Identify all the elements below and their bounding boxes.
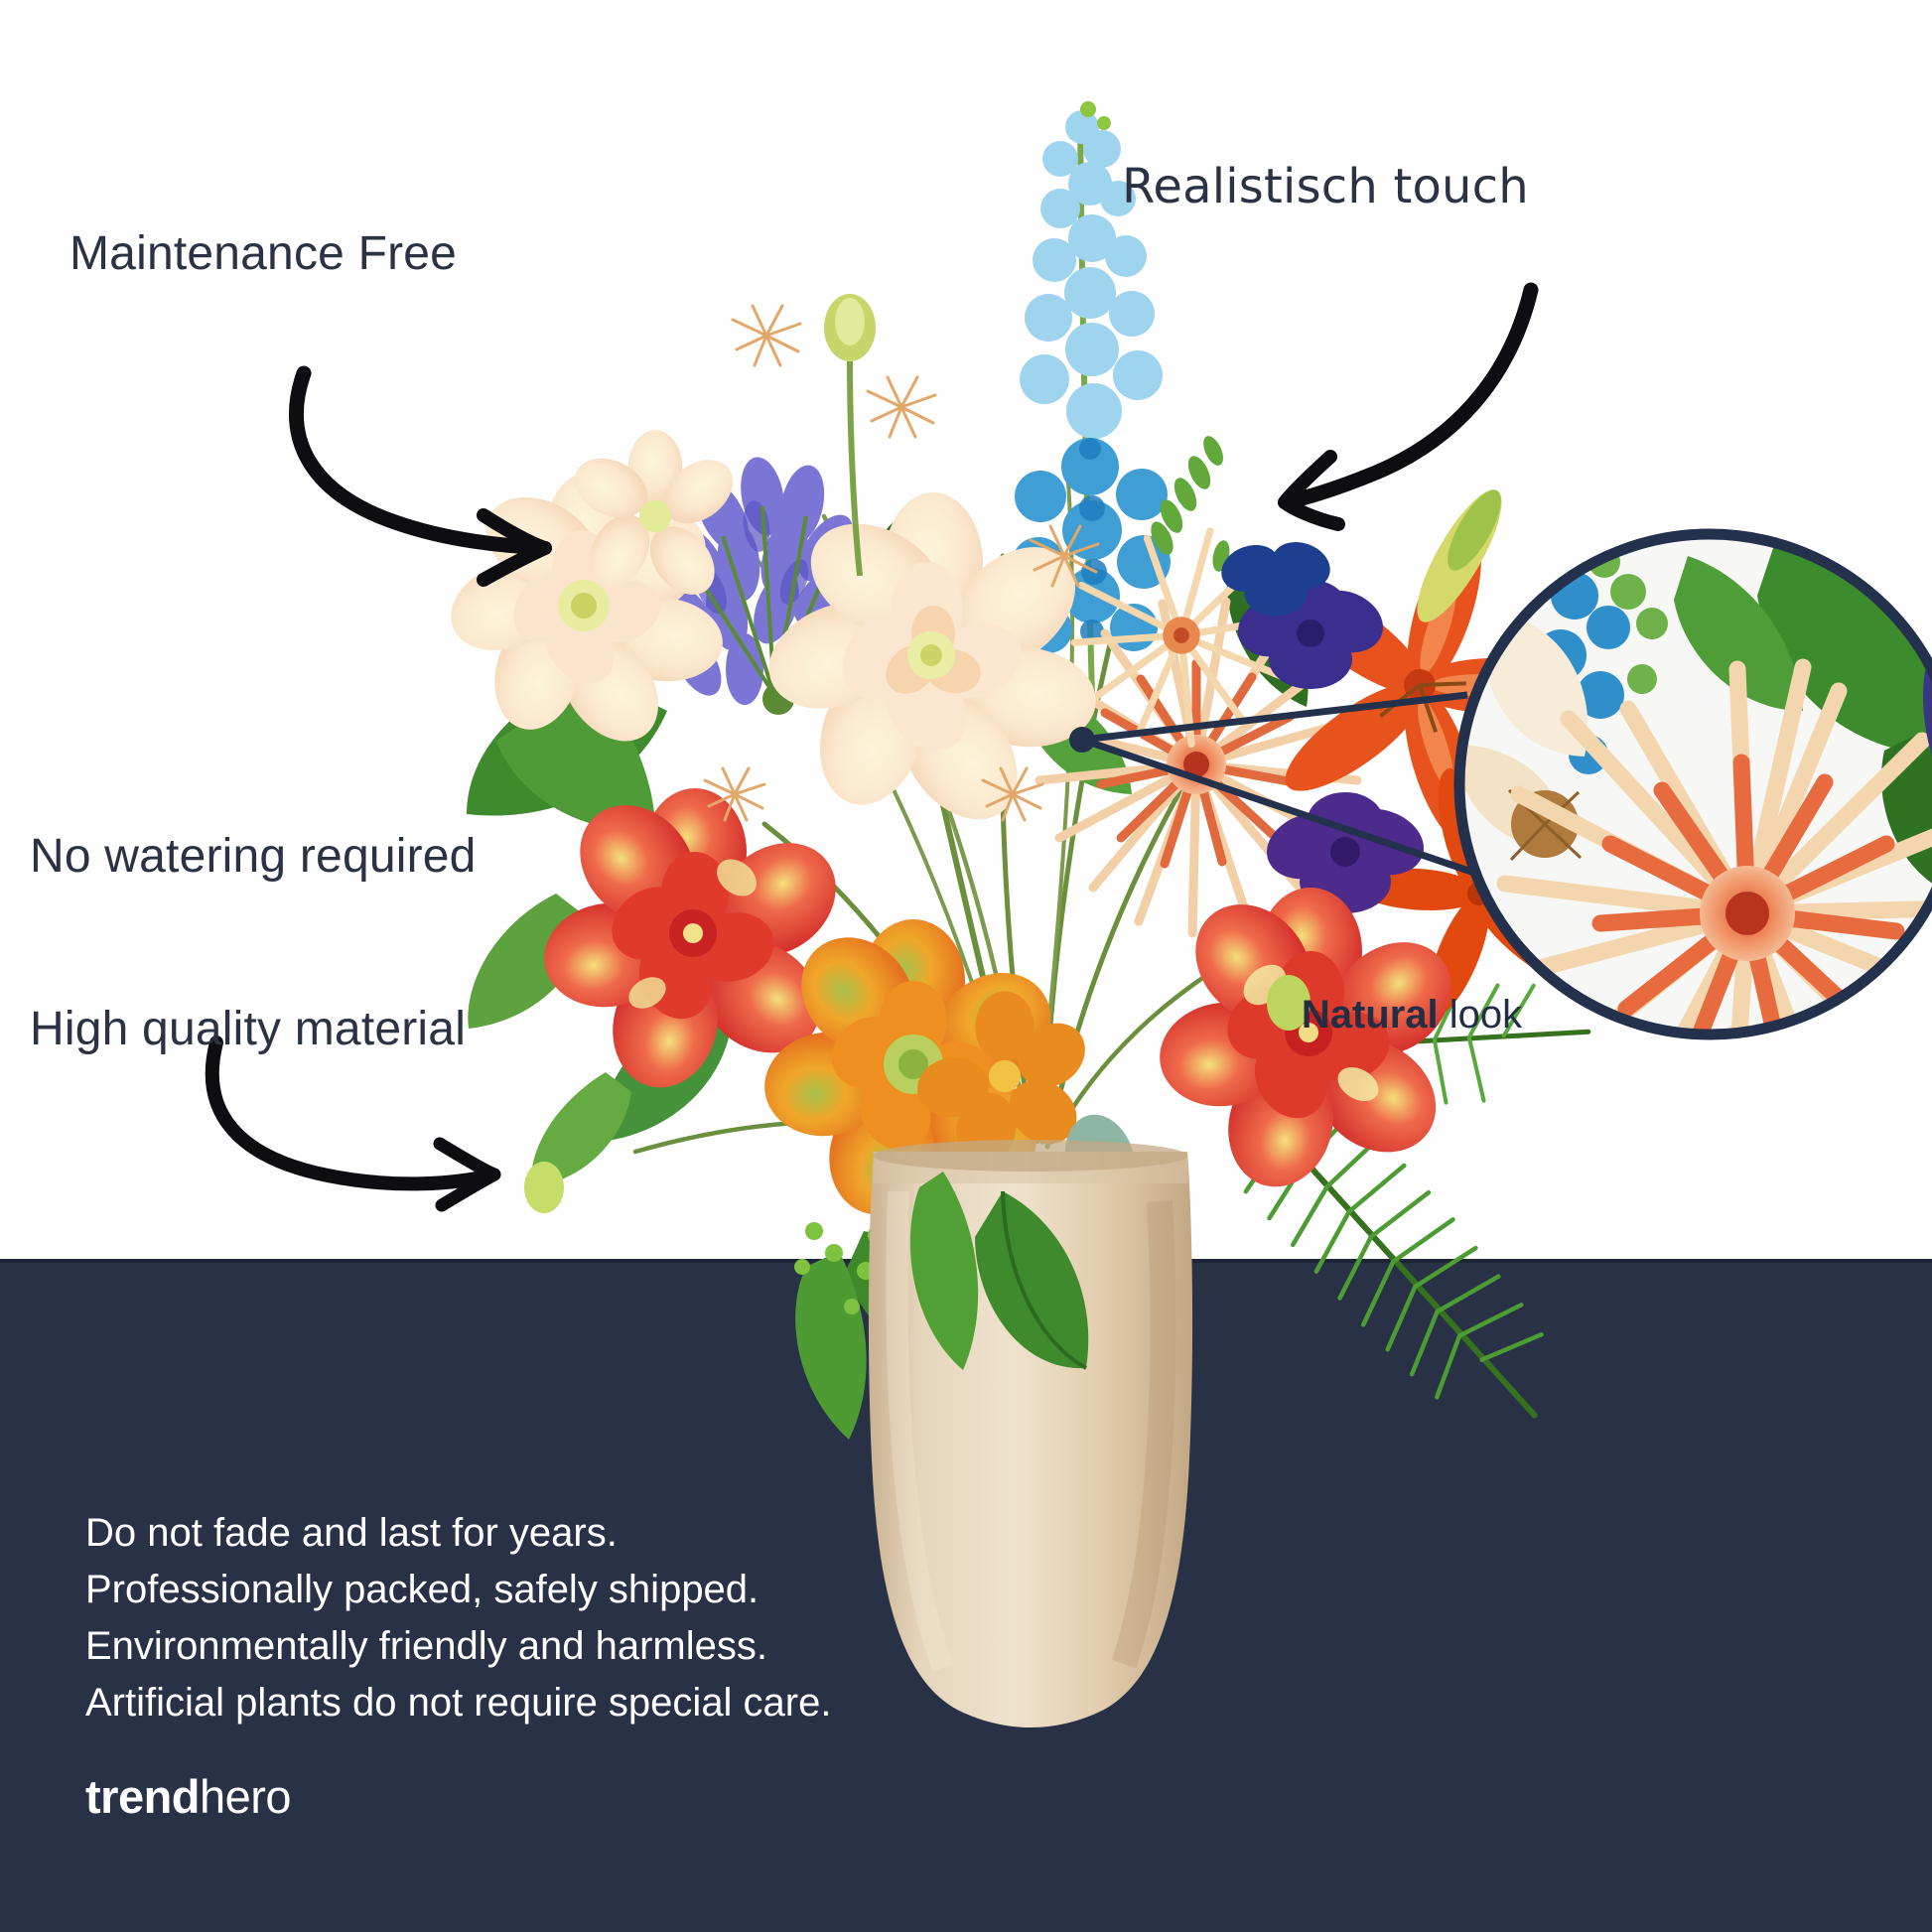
natural-look-rest: look [1439, 993, 1523, 1036]
natural-look-bold: Natural [1302, 993, 1439, 1036]
benefit-item-2: Professionally packed, safely shipped. [85, 1562, 831, 1618]
benefit-item-1: Do not fade and last for years. [85, 1505, 831, 1562]
benefit-item-4: Artificial plants do not require special… [85, 1675, 831, 1731]
label-no-watering: No watering required High quality materi… [30, 713, 477, 1173]
label-no-watering-line2: High quality material [30, 1001, 477, 1058]
brand-logo-bold: trend [85, 1770, 200, 1823]
label-no-watering-line1: No watering required [30, 828, 477, 886]
product-infographic: Maintenance Free Realistisch touch No wa… [0, 0, 1932, 1932]
brand-logo-light: hero [200, 1770, 291, 1823]
natural-look-caption: Natural look [1253, 993, 1571, 1037]
label-realistisch-touch: Realistisch touch [1122, 159, 1529, 214]
label-maintenance-free: Maintenance Free [69, 226, 457, 281]
benefit-item-3: Environmentally friendly and harmless. [85, 1618, 831, 1675]
arrow-realistisch-touch [1285, 290, 1531, 524]
arrow-maintenance-free [296, 373, 545, 580]
benefits-list: Do not fade and last for years. Professi… [85, 1505, 831, 1731]
brand-logo: trendhero [85, 1769, 291, 1824]
